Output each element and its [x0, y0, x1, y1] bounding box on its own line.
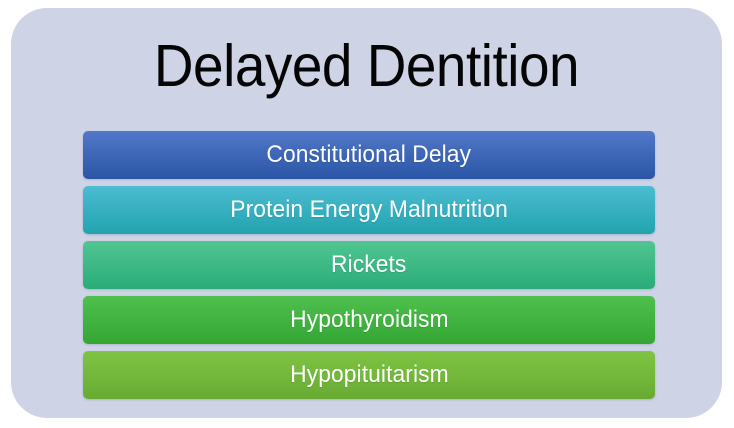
list-item[interactable]: Rickets — [83, 241, 655, 289]
list-item[interactable]: Protein Energy Malnutrition — [83, 186, 655, 234]
list-item[interactable]: Hypopituitarism — [83, 351, 655, 399]
list-item-label: Protein Energy Malnutrition — [230, 197, 508, 223]
list-item-label: Rickets — [331, 252, 406, 278]
list-item[interactable]: Hypothyroidism — [83, 296, 655, 344]
list-item-label: Hypothyroidism — [290, 307, 448, 333]
list-item[interactable]: Constitutional Delay — [83, 131, 655, 179]
list-item-label: Hypopituitarism — [290, 362, 449, 388]
cause-list: Constitutional Delay Protein Energy Maln… — [83, 131, 655, 399]
diagram-panel: Delayed Dentition Constitutional Delay P… — [11, 8, 722, 418]
slide-canvas: Delayed Dentition Constitutional Delay P… — [0, 0, 734, 428]
page-title: Delayed Dentition — [36, 30, 697, 102]
list-item-label: Constitutional Delay — [267, 142, 472, 168]
